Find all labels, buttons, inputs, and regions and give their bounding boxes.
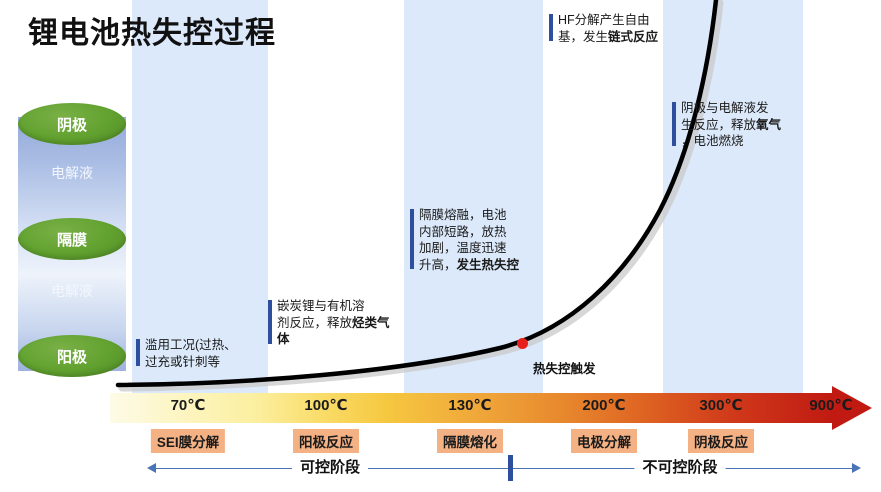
battery-layer-separator: 隔膜 xyxy=(18,218,126,260)
temp-tick-70: 70℃ xyxy=(171,396,206,414)
thermal-runaway-trigger-dot xyxy=(517,338,528,349)
phase-arrow-right-icon xyxy=(852,463,861,473)
note-separator-melt: 隔膜熔融，电池 内部短路，放热 加剧，温度迅速 升高，发生热失控 xyxy=(410,207,543,273)
temp-tick-200: 200℃ xyxy=(582,396,625,414)
battery-layer-cathode: 阴极 xyxy=(18,103,126,145)
temp-tick-100: 100℃ xyxy=(304,396,347,414)
note-hf-line-1: HF分解产生自由 xyxy=(558,13,650,27)
highlight-band-2 xyxy=(404,0,543,393)
note-cathode-tail: ，电池燃烧 xyxy=(681,134,744,148)
battery-layer-electrolyte-top: 电解液 xyxy=(18,163,126,183)
stage-chip-sei: SEI膜分解 xyxy=(151,429,225,453)
battery-layer-electrolyte-bottom: 电解液 xyxy=(18,281,126,301)
note-melt-line-1: 隔膜熔融，电池 xyxy=(419,208,507,222)
stage-chip-electrode: 电极分解 xyxy=(571,429,637,453)
note-melt-line-4: 升高， xyxy=(419,258,457,272)
note-hf-chain: HF分解产生自由 基，发生链式反应 xyxy=(549,12,686,45)
page-title: 锂电池热失控过程 xyxy=(28,8,276,52)
battery-layer-anode: 阳极 xyxy=(18,335,126,377)
stage-chip-separator: 隔膜熔化 xyxy=(437,429,503,453)
slide-canvas: 锂电池热失控过程 电解液 电解液 阴极 隔膜 阳极 热失控触发 滥用工况(过热、… xyxy=(0,0,881,492)
stage-chip-cathode: 阴极反应 xyxy=(688,429,754,453)
note-melt-line-3: 加剧，温度迅速 xyxy=(419,241,507,255)
note-sei-hydrocarbon: 嵌炭锂与有机溶 剂反应，释放烃类气体 xyxy=(268,298,401,348)
phase-label-uncontrollable: 不可控阶段 xyxy=(634,456,725,477)
note-sei-line-2: 剂反应，释放 xyxy=(277,316,352,330)
phase-arrow-left-icon xyxy=(147,463,156,473)
temperature-axis: 70℃ 100℃ 130℃ 200℃ 300℃ 900℃ xyxy=(110,393,872,423)
note-cathode-line-1: 阴极与电解液发 xyxy=(681,101,769,115)
stage-chip-anode: 阳极反应 xyxy=(293,429,359,453)
note-cathode-oxygen: 阴极与电解液发 生反应，释放氧气 ，电池燃烧 xyxy=(672,100,809,150)
temp-tick-300: 300℃ xyxy=(699,396,742,414)
highlight-band-1 xyxy=(132,0,268,393)
note-cathode-line-2: 生反应，释放 xyxy=(681,118,756,132)
note-abuse-line-2: 过充或针刺等 xyxy=(145,355,220,369)
battery-cylinder: 电解液 电解液 阴极 隔膜 阳极 xyxy=(18,103,126,385)
thermal-runaway-trigger-label: 热失控触发 xyxy=(533,358,596,377)
note-abuse-line-1: 滥用工况(过热、 xyxy=(145,338,237,352)
note-sei-line-1: 嵌炭锂与有机溶 xyxy=(277,299,365,313)
note-melt-line-2: 内部短路，放热 xyxy=(419,225,507,239)
highlight-band-3 xyxy=(663,0,803,393)
note-cathode-bold: 氧气 xyxy=(756,118,781,132)
phase-label-controllable: 可控阶段 xyxy=(292,456,368,477)
temp-tick-130: 130℃ xyxy=(448,396,491,414)
note-abuse: 滥用工况(过热、 过充或针刺等 xyxy=(136,337,269,370)
temp-tick-900: 900℃ xyxy=(809,396,852,414)
note-hf-bold: 链式反应 xyxy=(608,30,658,44)
note-hf-line-2: 基，发生 xyxy=(558,30,608,44)
note-melt-bold: 发生热失控 xyxy=(457,258,520,272)
